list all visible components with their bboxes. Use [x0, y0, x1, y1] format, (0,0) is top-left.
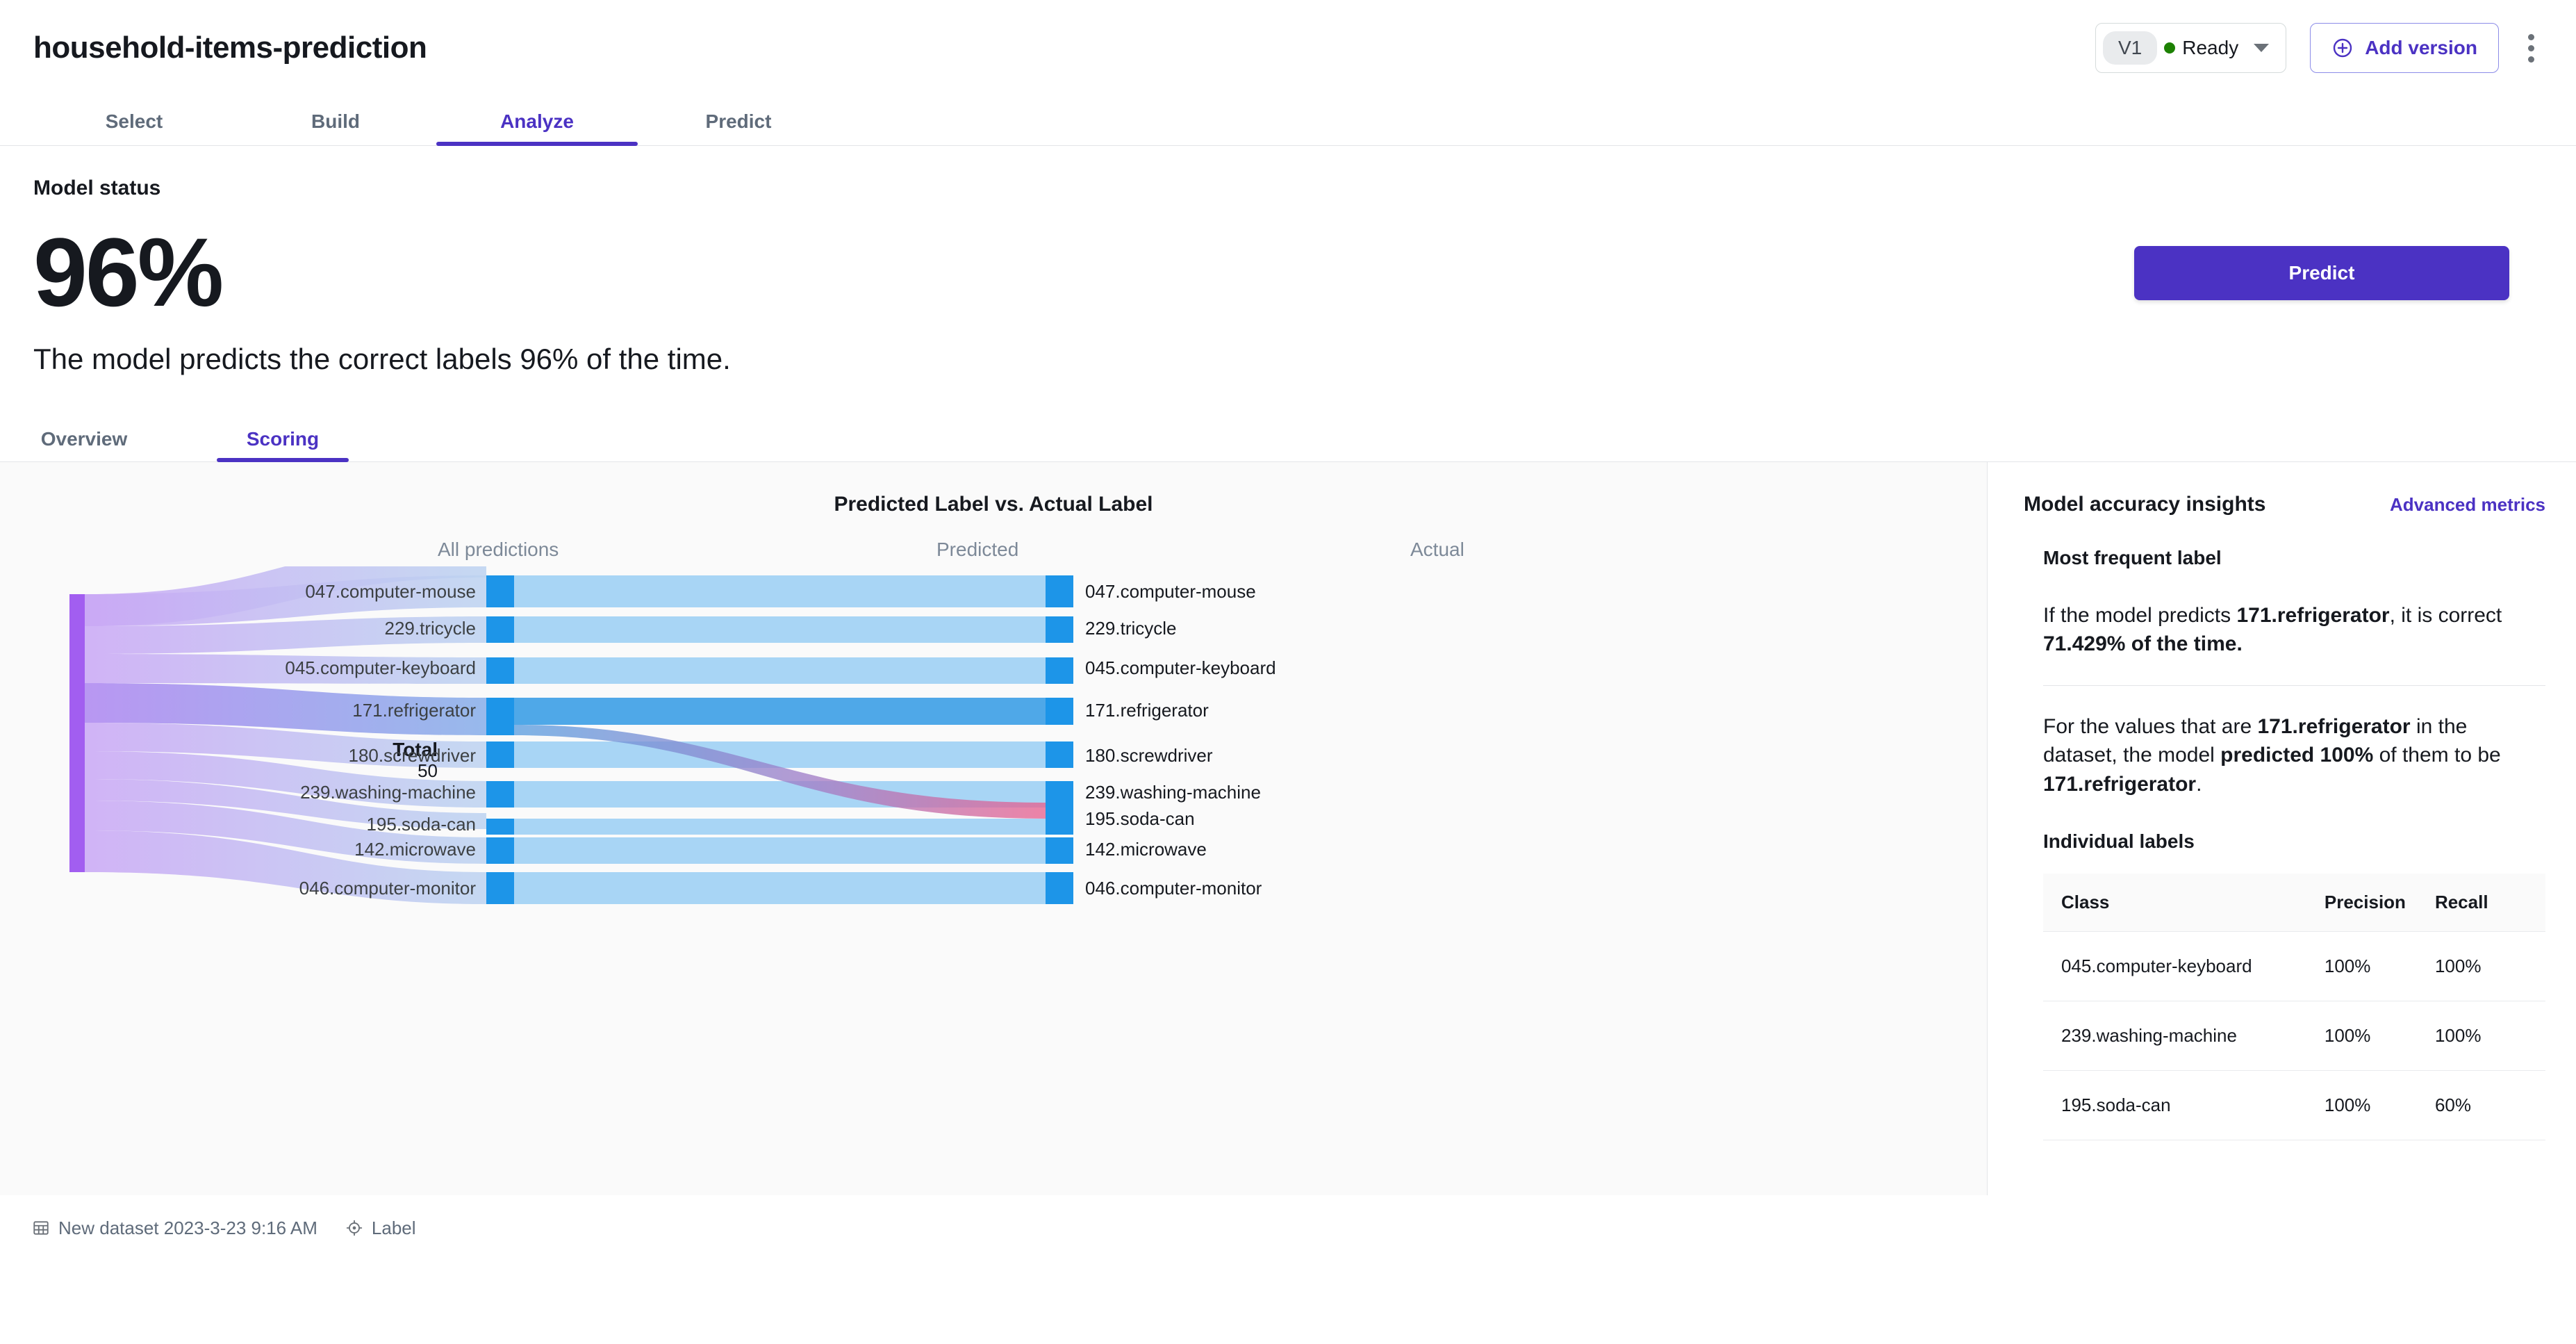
- sankey-node-actual-047[interactable]: [1046, 575, 1073, 607]
- sankey-link-mouse[interactable]: [514, 575, 1046, 607]
- sankey-column-headers: All predictions Predicted Actual: [0, 539, 1987, 566]
- sankey-label-predicted-229[interactable]: 229.tricycle: [0, 618, 476, 639]
- sankey-link-keyboard[interactable]: [514, 657, 1046, 684]
- insight-statement-recall: For the values that are 171.refrigerator…: [2043, 712, 2545, 798]
- insight-statement-precision: If the model predicts 171.refrigerator, …: [2043, 601, 2545, 659]
- tab-select[interactable]: Select: [33, 110, 235, 145]
- sankey-node-actual-142[interactable]: [1046, 837, 1073, 864]
- stmt2-label2: 171.refrigerator: [2043, 773, 2196, 796]
- most-frequent-label-heading: Most frequent label: [2043, 547, 2545, 569]
- sankey-link-microwave[interactable]: [514, 837, 1046, 864]
- plus-circle-icon: [2331, 37, 2354, 59]
- cell-class: 045.computer-keyboard: [2043, 931, 2325, 1001]
- cell-precision: 100%: [2325, 931, 2435, 1001]
- model-accuracy-description: The model predicts the correct labels 96…: [33, 343, 731, 376]
- sankey-label-predicted-171[interactable]: 171.refrigerator: [0, 700, 476, 721]
- predict-button[interactable]: Predict: [2134, 246, 2509, 300]
- stmt1-middle: , it is correct: [2390, 604, 2502, 627]
- sankey-label-predicted-195[interactable]: 195.soda-can: [0, 814, 476, 835]
- sankey-link-refrigerator[interactable]: [514, 698, 1046, 725]
- sankey-label-actual-195[interactable]: 195.soda-can: [1085, 808, 1195, 830]
- cell-recall: 100%: [2435, 931, 2545, 1001]
- sankey-node-actual-046[interactable]: [1046, 872, 1073, 904]
- chart-title: Predicted Label vs. Actual Label: [0, 462, 1987, 516]
- sankey-diagram: Total 50 047.computer-mouse 229.tricycle…: [0, 566, 1987, 997]
- sankey-node-actual-195[interactable]: [1046, 803, 1073, 835]
- status-badge: Ready: [2164, 37, 2238, 59]
- footer-dataset-label: New dataset 2023-3-23 9:16 AM: [58, 1218, 317, 1239]
- sankey-node-actual-171[interactable]: [1046, 698, 1073, 725]
- sankey-label-actual-142[interactable]: 142.microwave: [1085, 839, 1207, 860]
- individual-labels-heading: Individual labels: [2043, 830, 2545, 853]
- sankey-node-predicted-171[interactable]: [486, 698, 514, 735]
- cell-precision: 100%: [2325, 1070, 2435, 1140]
- sankey-node-predicted-239[interactable]: [486, 781, 514, 808]
- subtab-overview[interactable]: Overview: [33, 428, 135, 461]
- sankey-node-predicted-045[interactable]: [486, 657, 514, 684]
- sankey-node-predicted-142[interactable]: [486, 837, 514, 864]
- insights-divider: [2043, 685, 2545, 686]
- sankey-label-predicted-047[interactable]: 047.computer-mouse: [0, 581, 476, 603]
- cell-class: 239.washing-machine: [2043, 1001, 2325, 1070]
- cell-precision: 100%: [2325, 1001, 2435, 1070]
- page-title: household-items-prediction: [33, 31, 427, 65]
- table-row[interactable]: 045.computer-keyboard 100% 100%: [2043, 931, 2545, 1001]
- sankey-label-actual-180[interactable]: 180.screwdriver: [1085, 745, 1213, 767]
- add-version-label: Add version: [2365, 37, 2477, 59]
- column-header-all-predictions: All predictions: [438, 539, 559, 561]
- status-dot-icon: [2164, 42, 2175, 54]
- sankey-label-predicted-239[interactable]: 239.washing-machine: [0, 782, 476, 803]
- stmt2-label: 171.refrigerator: [2258, 715, 2411, 738]
- add-version-button[interactable]: Add version: [2310, 23, 2499, 73]
- stmt1-value: 71.429% of the time.: [2043, 632, 2243, 655]
- target-icon: [345, 1219, 363, 1237]
- chevron-down-icon[interactable]: [2254, 44, 2269, 52]
- content-area: Predicted Label vs. Actual Label All pre…: [0, 462, 2576, 1195]
- column-header-recall[interactable]: Recall: [2435, 874, 2545, 932]
- sankey-node-predicted-047[interactable]: [486, 575, 514, 607]
- subtab-scoring[interactable]: Scoring: [232, 428, 333, 461]
- more-vertical-icon[interactable]: [2523, 27, 2540, 69]
- version-chip: V1: [2103, 31, 2157, 65]
- tab-analyze[interactable]: Analyze: [436, 110, 638, 145]
- sankey-label-actual-045[interactable]: 045.computer-keyboard: [1085, 657, 1276, 679]
- header-actions: V1 Ready Add version: [2095, 23, 2540, 73]
- sankey-link-screwdriver[interactable]: [514, 741, 1046, 768]
- sankey-node-predicted-195[interactable]: [486, 819, 514, 835]
- model-status-section: Model status 96% The model predicts the …: [0, 146, 2576, 376]
- main-tab-bar: Select Build Analyze Predict: [0, 96, 2576, 146]
- insights-title: Model accuracy insights: [2024, 493, 2265, 516]
- sankey-node-actual-045[interactable]: [1046, 657, 1073, 684]
- column-header-precision[interactable]: Precision: [2325, 874, 2435, 932]
- sankey-label-predicted-180[interactable]: 180.screwdriver: [0, 745, 476, 767]
- footer-dataset-item[interactable]: New dataset 2023-3-23 9:16 AM: [32, 1218, 317, 1239]
- table-row[interactable]: 195.soda-can 100% 60%: [2043, 1070, 2545, 1140]
- column-header-class[interactable]: Class: [2043, 874, 2325, 932]
- insights-header: Model accuracy insights Advanced metrics: [2024, 493, 2545, 516]
- model-accuracy-insights-panel: Model accuracy insights Advanced metrics…: [1987, 462, 2576, 1195]
- cell-class: 195.soda-can: [2043, 1070, 2325, 1140]
- sankey-label-predicted-046[interactable]: 046.computer-monitor: [0, 878, 476, 899]
- insights-body: Most frequent label If the model predict…: [2024, 547, 2545, 1140]
- sankey-label-actual-047[interactable]: 047.computer-mouse: [1085, 581, 1256, 603]
- stmt2-end: .: [2196, 773, 2202, 796]
- stmt2-prefix: For the values that are: [2043, 715, 2258, 738]
- stmt1-prefix: If the model predicts: [2043, 604, 2236, 627]
- sankey-node-actual-180[interactable]: [1046, 741, 1073, 768]
- cell-recall: 100%: [2435, 1001, 2545, 1070]
- cell-recall: 60%: [2435, 1070, 2545, 1140]
- table-icon: [32, 1219, 50, 1237]
- sankey-node-predicted-046[interactable]: [486, 872, 514, 904]
- column-header-predicted: Predicted: [936, 539, 1018, 561]
- footer-bar: New dataset 2023-3-23 9:16 AM Label: [0, 1195, 2576, 1261]
- model-accuracy-value: 96%: [33, 221, 731, 323]
- sankey-label-actual-239[interactable]: 239.washing-machine: [1085, 782, 1261, 803]
- status-text: Ready: [2182, 37, 2238, 59]
- sub-tab-bar: Overview Scoring: [0, 413, 2576, 462]
- stmt2-value: predicted 100%: [2220, 744, 2373, 767]
- model-status-label: Model status: [33, 177, 731, 200]
- table-row[interactable]: 239.washing-machine 100% 100%: [2043, 1001, 2545, 1070]
- version-selector[interactable]: V1 Ready: [2095, 23, 2286, 73]
- stmt1-label: 171.refrigerator: [2236, 604, 2389, 627]
- sankey-label-predicted-045[interactable]: 045.computer-keyboard: [0, 657, 476, 679]
- column-header-actual: Actual: [1410, 539, 1464, 561]
- sankey-link-soda[interactable]: [514, 819, 1046, 835]
- sankey-link-tricycle[interactable]: [514, 616, 1046, 643]
- individual-labels-table: Class Precision Recall 045.computer-keyb…: [2043, 874, 2545, 1140]
- footer-label-item[interactable]: Label: [345, 1218, 416, 1239]
- app-header: household-items-prediction V1 Ready Add …: [0, 0, 2576, 96]
- sankey-label-predicted-142[interactable]: 142.microwave: [0, 839, 476, 860]
- tab-build[interactable]: Build: [235, 110, 436, 145]
- sankey-label-actual-171[interactable]: 171.refrigerator: [1085, 700, 1209, 721]
- sankey-node-predicted-229[interactable]: [486, 616, 514, 643]
- advanced-metrics-link[interactable]: Advanced metrics: [2390, 494, 2545, 516]
- sankey-label-actual-229[interactable]: 229.tricycle: [1085, 618, 1177, 639]
- sankey-link-monitor[interactable]: [514, 872, 1046, 904]
- footer-label-text: Label: [372, 1218, 416, 1239]
- model-status-text-group: Model status 96% The model predicts the …: [33, 177, 731, 376]
- tab-predict[interactable]: Predict: [638, 110, 839, 145]
- sankey-node-predicted-180[interactable]: [486, 741, 514, 768]
- sankey-label-actual-046[interactable]: 046.computer-monitor: [1085, 878, 1262, 899]
- sankey-node-actual-229[interactable]: [1046, 616, 1073, 643]
- table-header-row: Class Precision Recall: [2043, 874, 2545, 932]
- stmt2-suffix: of them to be: [2373, 744, 2500, 767]
- sankey-chart-panel: Predicted Label vs. Actual Label All pre…: [0, 462, 1987, 1195]
